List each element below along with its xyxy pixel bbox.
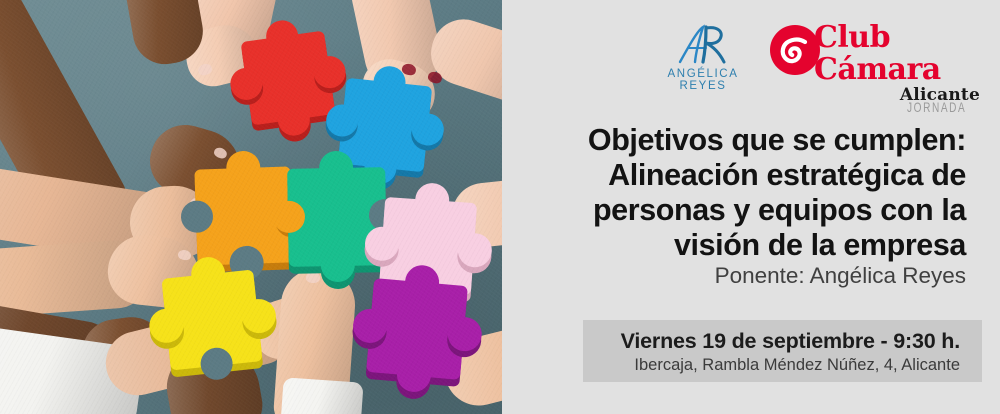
- kicker-label: JORNADA: [907, 99, 966, 115]
- event-date: Viernes 19 de septiembre - 9:30 h.: [583, 328, 960, 354]
- logo-club-camara-text: Club Cámara Alicante: [814, 22, 982, 105]
- logo-angelica-reyes[interactable]: ANGÉLICA REYES: [642, 22, 764, 92]
- ar-monogram-icon: [642, 22, 764, 66]
- event-details-inner: Viernes 19 de septiembre - 9:30 h. Iberc…: [583, 320, 982, 382]
- hero-photo-puzzle-hands: [0, 0, 502, 414]
- info-panel: ANGÉLICA REYES Club Cámara Alicante JORN…: [502, 0, 1000, 414]
- event-venue: Ibercaja, Rambla Méndez Núñez, 4, Alican…: [583, 354, 960, 376]
- title-line-1: Objetivos que se cumplen:: [536, 123, 966, 158]
- title-line-2: Alineación estratégica de: [536, 158, 966, 193]
- logo-club-camara-main: Club Cámara: [814, 22, 982, 86]
- club-camara-swirl-icon: [779, 35, 809, 65]
- logo-row: ANGÉLICA REYES Club Cámara Alicante: [502, 0, 1000, 96]
- title-line-3: personas y equipos con la: [536, 193, 966, 228]
- logo-angelica-reyes-label: ANGÉLICA REYES: [642, 68, 764, 92]
- photo-grain-overlay: [0, 0, 502, 414]
- event-details-box: Viernes 19 de septiembre - 9:30 h. Iberc…: [583, 320, 982, 382]
- page-title: Objetivos que se cumplen: Alineación est…: [536, 123, 966, 263]
- title-line-4: visión de la empresa: [536, 228, 966, 263]
- speaker-label: Ponente: Angélica Reyes: [536, 262, 966, 290]
- event-poster: ANGÉLICA REYES Club Cámara Alicante JORN…: [0, 0, 1000, 414]
- logo-club-camara[interactable]: Club Cámara Alicante: [770, 22, 982, 80]
